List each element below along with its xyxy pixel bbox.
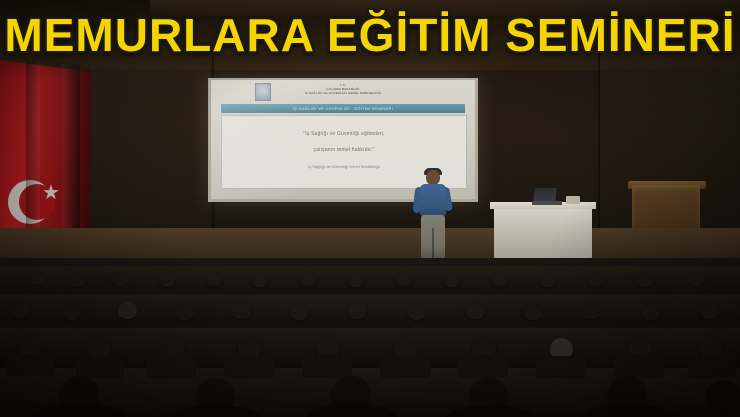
audience-head xyxy=(638,274,653,287)
slide-header-line-3: İŞ SAĞLIĞI VE GÜVENLİĞİ GENEL MÜDÜRLÜĞÜ xyxy=(211,91,475,95)
audience-head xyxy=(688,272,704,286)
audience-head xyxy=(444,274,459,287)
audience-head xyxy=(700,302,719,319)
audience-head xyxy=(706,380,740,412)
audience-head xyxy=(396,272,412,286)
speaker-leg-separation xyxy=(432,228,434,258)
seat-row-1 xyxy=(0,266,740,294)
seminar-photograph: T.C. ÇALIŞMA BAKANLIĞI İŞ SAĞLIĞI VE GÜV… xyxy=(0,0,740,417)
audience-head xyxy=(70,274,85,287)
audience-head xyxy=(348,274,363,287)
audience-head xyxy=(12,302,30,318)
audience-head xyxy=(290,304,308,320)
audience-shoulders xyxy=(688,356,736,378)
audience-head xyxy=(176,304,194,320)
audience-head xyxy=(206,272,222,286)
audience-shoulders xyxy=(76,356,124,378)
speaker-head xyxy=(426,170,440,185)
audience-head xyxy=(408,304,426,320)
audience-shoulders xyxy=(146,354,196,378)
audience-head xyxy=(160,274,175,287)
audience-head xyxy=(466,302,485,319)
audience-head xyxy=(642,304,660,320)
audience-shoulders xyxy=(6,354,54,376)
slide-quote-line-1: "İş Sağlığı ve Güvenliği eğitimleri, xyxy=(222,126,466,142)
audience-shoulders xyxy=(380,356,430,378)
slide-header: T.C. ÇALIŞMA BAKANLIĞI İŞ SAĞLIĞI VE GÜV… xyxy=(211,80,475,102)
audience-head xyxy=(540,274,555,287)
audience-head xyxy=(118,302,137,319)
audience-head xyxy=(348,302,367,319)
slide-header-line-1: T.C. xyxy=(211,80,475,87)
audience-shoulders xyxy=(302,354,352,378)
seat-row-2 xyxy=(0,294,740,326)
audience-head xyxy=(300,272,316,286)
audience-head xyxy=(62,304,80,320)
speaker-torso xyxy=(420,184,446,216)
audience-head xyxy=(588,272,604,286)
audience-shoulders xyxy=(614,354,664,378)
slide-quote: "İş Sağlığı ve Güvenliği eğitimleri, çal… xyxy=(222,116,466,158)
slide-quote-line-2: çalışanın temel hakkıdır." xyxy=(222,142,466,158)
ceiling-beam xyxy=(150,0,740,16)
presentation-table xyxy=(494,206,592,258)
standing-speaker xyxy=(412,170,454,260)
audience-head xyxy=(252,274,267,287)
laptop-base xyxy=(532,201,562,205)
seated-audience xyxy=(0,258,740,417)
slide-banner: İŞ SAĞLIĞI VE GÜVENLİĞİ - EĞİTİM SEMİNER… xyxy=(221,104,465,113)
audience-shoulders xyxy=(536,356,586,378)
audience-head xyxy=(582,302,601,319)
audience-head xyxy=(30,272,45,285)
audience-head xyxy=(492,272,508,286)
audience-head xyxy=(524,304,542,320)
audience-shoulders xyxy=(458,354,508,378)
audience-shoulders xyxy=(224,356,274,378)
laptop-screen xyxy=(533,188,556,202)
audience-head xyxy=(232,302,251,319)
audience-head xyxy=(112,272,128,286)
table-item xyxy=(566,196,580,204)
slide-emblem-icon xyxy=(255,83,271,101)
